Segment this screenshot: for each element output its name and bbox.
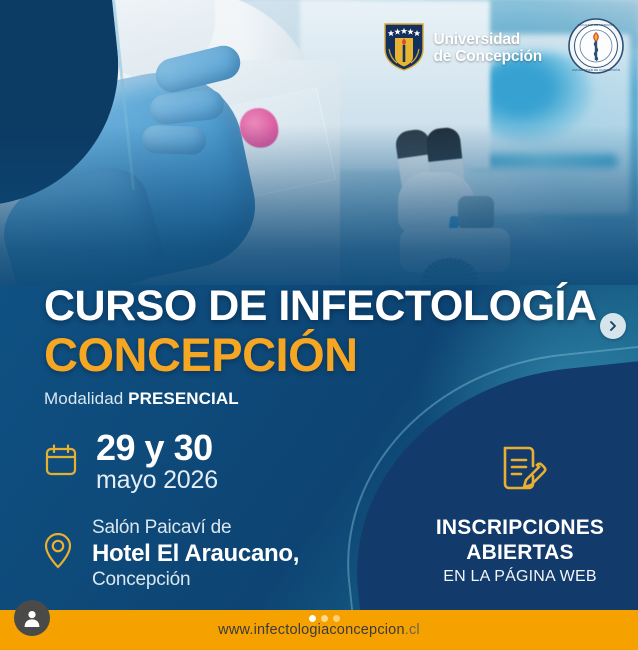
header-logos: Universidad de Concepción FACULTAD DE ME… — [383, 18, 625, 79]
chevron-right-icon — [607, 320, 619, 332]
inscriptions-line-1: INSCRIPCIONES — [420, 515, 620, 540]
title-line-1: CURSO DE INFECTOLOGÍA — [44, 285, 604, 328]
venue-city: Concepción — [92, 568, 299, 592]
photo-gradient-fade — [0, 125, 638, 300]
location-pin-icon — [40, 530, 76, 577]
date-text: 29 y 30 mayo 2026 — [96, 430, 218, 494]
title-block: CURSO DE INFECTOLOGÍA CONCEPCIÓN Modalid… — [44, 285, 604, 409]
website-url[interactable]: www.infectologiaconcepcion.cl — [218, 622, 420, 638]
instagram-post-poster: Universidad de Concepción FACULTAD DE ME… — [0, 0, 638, 650]
svg-text:UNIVERSIDAD DE CONCEPCIÓN: UNIVERSIDAD DE CONCEPCIÓN — [572, 67, 620, 72]
university-logo-lockup: Universidad de Concepción — [383, 21, 543, 76]
inscriptions-line-2: ABIERTAS — [420, 540, 620, 566]
date-row: 29 y 30 mayo 2026 — [44, 430, 218, 494]
venue-prefix: Salón Paicaví de — [92, 516, 299, 540]
university-name-line1: Universidad — [434, 31, 521, 48]
university-name-line2: de Concepción — [434, 48, 543, 65]
title-line-2: CONCEPCIÓN — [44, 330, 604, 380]
modality-value: PRESENCIAL — [128, 389, 239, 408]
calendar-icon — [44, 443, 78, 482]
venue-text: Salón Paicaví de Hotel El Araucano, Conc… — [92, 516, 299, 592]
carousel-next-button[interactable] — [600, 313, 626, 339]
person-icon — [22, 608, 42, 628]
date-month-year: mayo 2026 — [96, 466, 218, 494]
document-pencil-icon — [420, 440, 620, 501]
decorative-dots — [309, 615, 340, 622]
date-day: 29 y 30 — [96, 430, 218, 466]
faculty-of-medicine-seal: FACULTAD DE MEDICINA UNIVERSIDAD DE CONC… — [568, 18, 624, 79]
university-name: Universidad de Concepción — [434, 32, 543, 65]
website-bar: www.infectologiaconcepcion.cl — [0, 610, 638, 650]
url-main: www.infectologiaconcepcion — [218, 622, 405, 638]
svg-text:FACULTAD DE MEDICINA: FACULTAD DE MEDICINA — [578, 23, 616, 27]
url-tld: .cl — [405, 622, 420, 638]
inscriptions-block: INSCRIPCIONES ABIERTAS EN LA PÁGINA WEB — [420, 440, 620, 586]
user-avatar[interactable] — [14, 600, 50, 636]
venue-row: Salón Paicaví de Hotel El Araucano, Conc… — [40, 516, 299, 592]
inscriptions-line-3: EN LA PÁGINA WEB — [420, 568, 620, 586]
udec-shield-logo — [383, 21, 425, 76]
modality-text: Modalidad PRESENCIAL — [44, 389, 604, 409]
venue-name: Hotel El Araucano, — [92, 540, 299, 568]
modality-prefix: Modalidad — [44, 389, 128, 408]
